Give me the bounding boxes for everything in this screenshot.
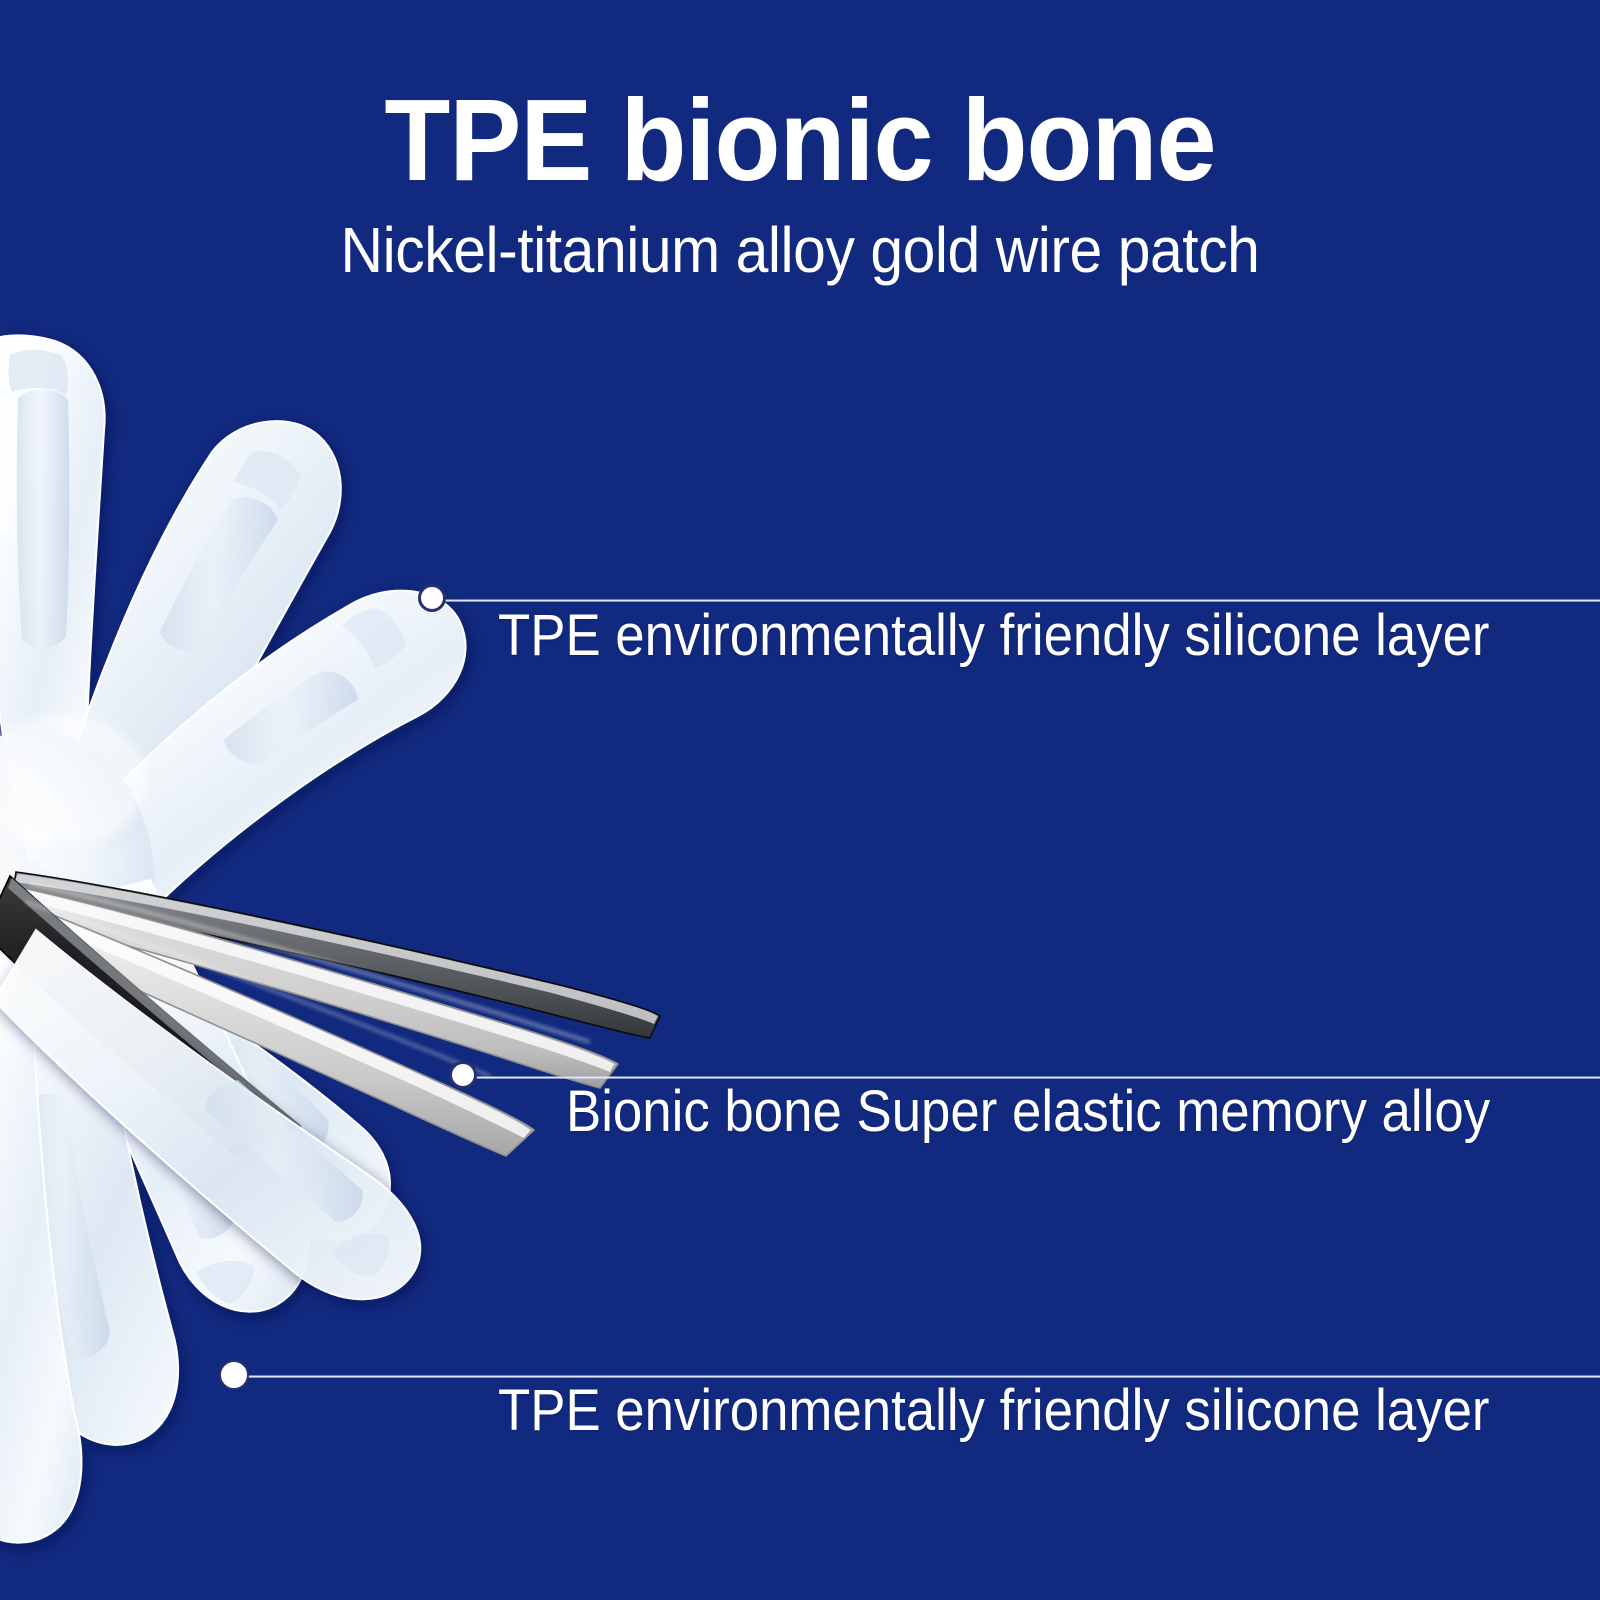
callout-marker-solid-circle-icon — [219, 1360, 249, 1390]
callout-marker-hollow-circle-icon — [449, 1061, 477, 1089]
callout-label: TPE environmentally friendly silicone la… — [498, 1382, 1490, 1440]
callout-label: TPE environmentally friendly silicone la… — [498, 607, 1490, 665]
callout-marker-hollow-circle-icon — [418, 584, 446, 612]
callout-label: Bionic bone Super elastic memory alloy — [566, 1083, 1490, 1141]
infographic-canvas: TPE bionic bone Nickel-titanium alloy go… — [0, 0, 1600, 1600]
product-illustration — [0, 0, 1600, 1600]
callout-leader-line — [432, 599, 1600, 602]
